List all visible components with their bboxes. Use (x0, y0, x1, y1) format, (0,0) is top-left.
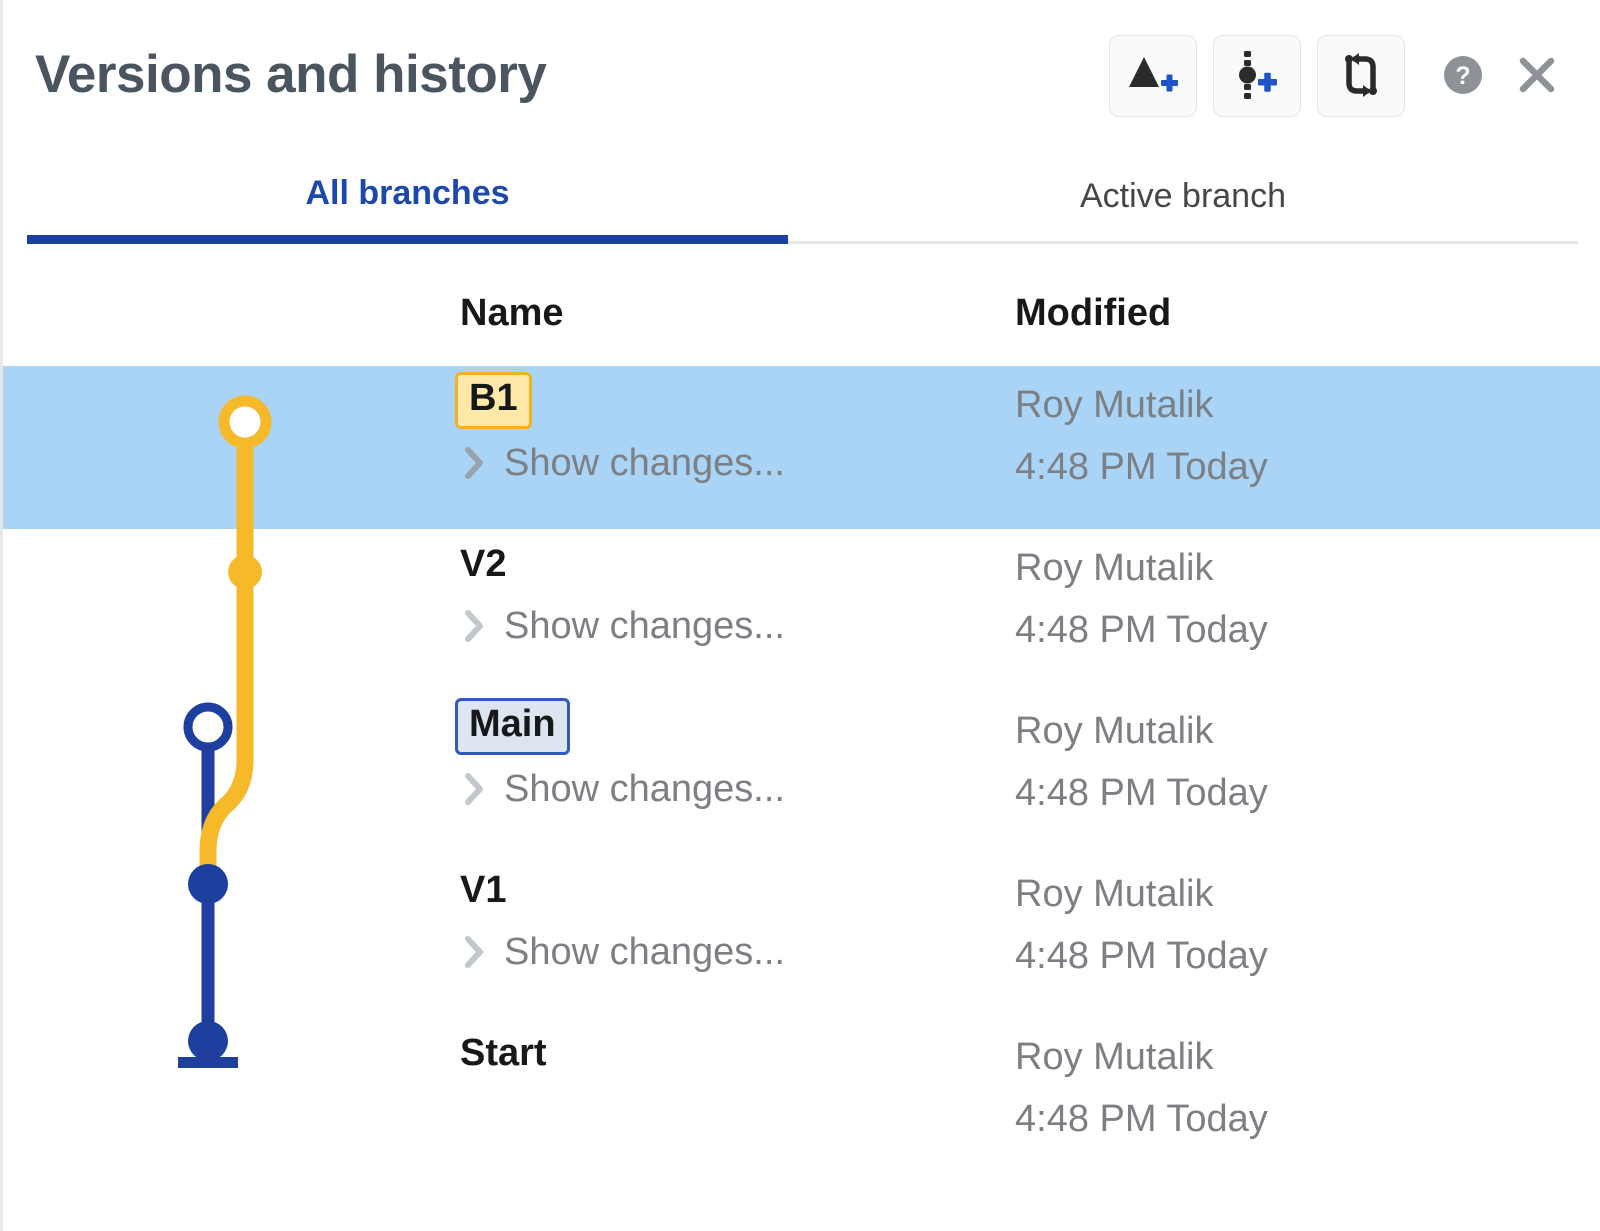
add-branch-button[interactable] (1213, 35, 1301, 117)
tab-active-branch[interactable]: Active branch (788, 152, 1578, 244)
column-header-modified: Modified (1015, 292, 1171, 335)
header-actions: ? (1109, 35, 1569, 117)
table-row[interactable]: V2 Show changes... Roy Mutalik 4:48 PM T… (3, 529, 1600, 692)
tab-active-branch-label: Active branch (1080, 177, 1286, 216)
show-changes-toggle[interactable]: Show changes... (463, 444, 785, 482)
add-branch-icon (1230, 49, 1284, 104)
add-version-icon (1126, 51, 1180, 102)
close-icon (1513, 51, 1561, 102)
chevron-right-icon (463, 446, 487, 480)
merge-branch-icon (1337, 50, 1385, 103)
branch-name-badge[interactable]: B1 (455, 372, 532, 429)
page-title: Versions and history (35, 44, 546, 105)
show-changes-label: Show changes... (504, 933, 785, 971)
table-row[interactable]: Start Roy Mutalik 4:48 PM Today (3, 1018, 1600, 1181)
modified-author: Roy Mutalik (1015, 386, 1214, 424)
chevron-right-icon (463, 609, 487, 643)
modified-time: 4:48 PM Today (1015, 774, 1268, 812)
version-name: V2 (460, 543, 506, 586)
version-name: V1 (460, 869, 506, 912)
modified-author: Roy Mutalik (1015, 712, 1214, 750)
main-branch-badge[interactable]: Main (455, 698, 570, 755)
tab-all-branches[interactable]: All branches (27, 152, 788, 244)
show-changes-toggle[interactable]: Show changes... (463, 770, 785, 808)
table-row[interactable]: V1 Show changes... Roy Mutalik 4:48 PM T… (3, 855, 1600, 1018)
modified-author: Roy Mutalik (1015, 549, 1214, 587)
merge-branch-button[interactable] (1317, 35, 1405, 117)
column-header-name: Name (460, 292, 564, 335)
add-version-button[interactable] (1109, 35, 1197, 117)
column-headers: Name Modified (3, 244, 1600, 366)
show-changes-label: Show changes... (504, 607, 785, 645)
show-changes-label: Show changes... (504, 444, 785, 482)
table-row[interactable]: B1 Show changes... Roy Mutalik 4:48 PM T… (3, 366, 1600, 529)
svg-text:?: ? (1455, 62, 1470, 90)
chevron-right-icon (463, 935, 487, 969)
show-changes-toggle[interactable]: Show changes... (463, 607, 785, 645)
table-row[interactable]: Main Show changes... Roy Mutalik 4:48 PM… (3, 692, 1600, 855)
chevron-right-icon (463, 772, 487, 806)
modified-author: Roy Mutalik (1015, 1038, 1214, 1076)
modified-time: 4:48 PM Today (1015, 611, 1268, 649)
tab-bar: All branches Active branch (27, 152, 1600, 244)
help-button[interactable]: ? (1431, 44, 1495, 108)
modified-author: Roy Mutalik (1015, 875, 1214, 913)
versions-history-panel: Versions and history (0, 0, 1600, 1231)
version-list: B1 Show changes... Roy Mutalik 4:48 PM T… (3, 366, 1600, 1181)
panel-header: Versions and history (3, 0, 1600, 152)
modified-time: 4:48 PM Today (1015, 448, 1268, 486)
help-circle-icon: ? (1440, 52, 1486, 101)
tab-all-branches-label: All branches (305, 174, 509, 213)
version-name: Start (460, 1032, 547, 1075)
modified-time: 4:48 PM Today (1015, 1100, 1268, 1138)
close-button[interactable] (1505, 44, 1569, 108)
show-changes-label: Show changes... (504, 770, 785, 808)
modified-time: 4:48 PM Today (1015, 937, 1268, 975)
show-changes-toggle[interactable]: Show changes... (463, 933, 785, 971)
